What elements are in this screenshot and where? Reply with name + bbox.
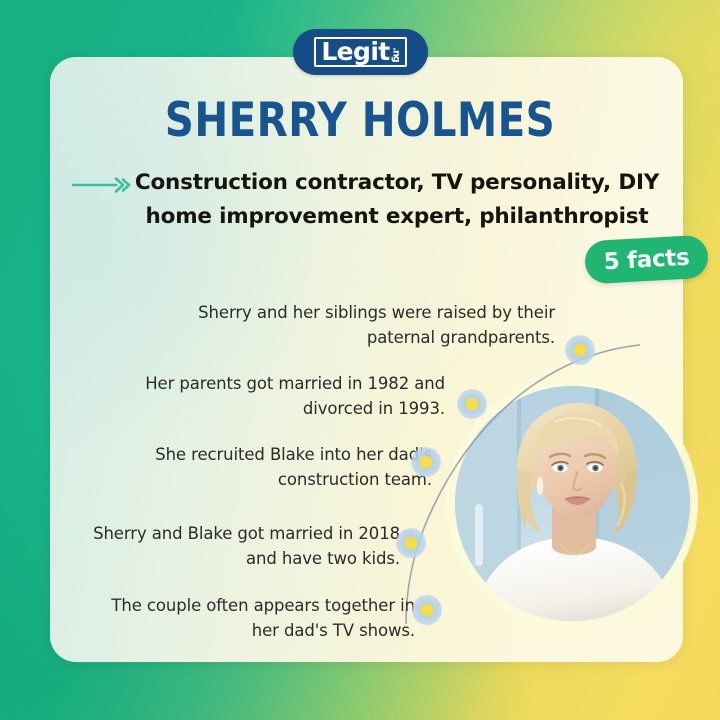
facts-count-label: 5 facts xyxy=(603,244,690,275)
page-title: SHERRY HOLMES xyxy=(50,95,669,147)
logo-wordmark: Legit xyxy=(321,40,389,64)
logo-frame: Legit .ng xyxy=(314,37,406,67)
facts-count-badge: 5 facts xyxy=(584,235,709,285)
infographic-root: Legit .ng SHERRY HOLMES Construction con… xyxy=(0,0,720,720)
fact-item-5: The couple often appears together in her… xyxy=(80,593,415,643)
portrait-photo xyxy=(455,386,690,621)
subtitle-text: Construction contractor, TV personality,… xyxy=(70,166,670,234)
fact-item-4: Sherry and Blake got married in 2018 and… xyxy=(80,521,400,571)
timeline-dot-4 xyxy=(396,528,426,558)
legit-logo[interactable]: Legit .ng xyxy=(293,29,428,75)
subtitle-block: Construction contractor, TV personality,… xyxy=(70,166,670,234)
fact-item-3: She recruited Blake into her dad's const… xyxy=(110,442,432,492)
arrow-right-icon xyxy=(72,176,134,194)
logo-tld: .ng xyxy=(391,47,401,63)
portrait-illustration xyxy=(455,386,690,621)
fact-item-1: Sherry and her siblings were raised by t… xyxy=(170,300,555,350)
timeline-dot-1 xyxy=(565,335,595,365)
timeline-dot-5 xyxy=(412,595,442,625)
timeline-dot-3 xyxy=(411,447,441,477)
fact-item-2: Her parents got married in 1982 and divo… xyxy=(100,371,445,421)
timeline-dot-2 xyxy=(457,389,487,419)
